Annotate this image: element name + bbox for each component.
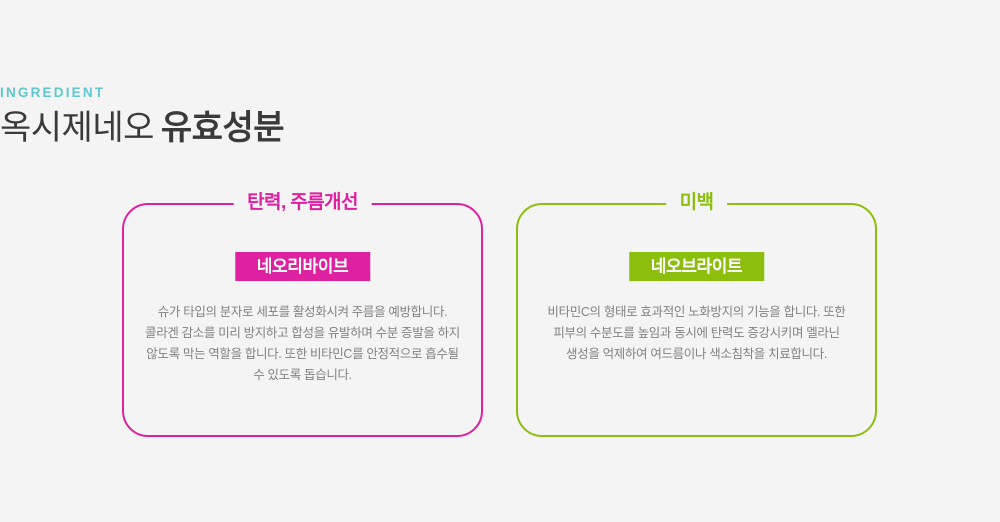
ingredient-card-neobright: 미백 네오브라이트 비타민C의 형태로 효과적인 노화방지의 기능을 합니다. … bbox=[516, 203, 877, 437]
card-title-neobright: 미백 bbox=[666, 191, 728, 215]
page-title-brand: 옥시제네오 bbox=[0, 109, 154, 147]
card-description-neobright: 비타민C의 형태로 효과적인 노화방지의 기능을 합니다. 또한 피부의 수분도… bbox=[538, 302, 855, 365]
card-description-neorevive: 슈가 타입의 분자로 세포를 활성화시켜 주름을 예방합니다. 콜라겐 감소를 … bbox=[144, 302, 461, 386]
card-badge-neorevive: 네오리바이브 bbox=[235, 252, 370, 281]
page-header: INGREDIENT 옥시제네오유효성분 bbox=[0, 86, 520, 146]
ingredient-card-list: 탄력, 주름개선 네오리바이브 슈가 타입의 분자로 세포를 활성화시켜 주름을… bbox=[122, 203, 878, 439]
page-title-emphasis: 유효성분 bbox=[161, 109, 284, 147]
ingredient-card-neorevive: 탄력, 주름개선 네오리바이브 슈가 타입의 분자로 세포를 활성화시켜 주름을… bbox=[122, 203, 483, 437]
section-eyebrow-label: INGREDIENT bbox=[0, 86, 520, 100]
card-title-neorevive: 탄력, 주름개선 bbox=[233, 191, 372, 215]
page-title: 옥시제네오유효성분 bbox=[0, 111, 520, 147]
card-badge-neobright: 네오브라이트 bbox=[629, 252, 764, 281]
